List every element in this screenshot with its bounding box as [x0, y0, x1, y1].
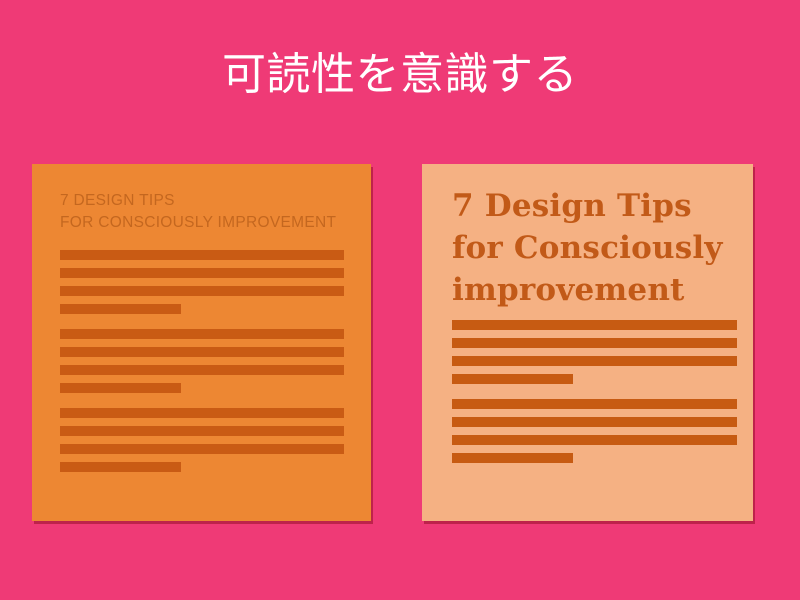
heading-line: FOR CONSCIOUSLY IMPROVEMENT	[60, 212, 350, 234]
text-line-bar	[452, 356, 737, 366]
text-line-bar	[60, 250, 344, 260]
paragraph-group	[452, 320, 737, 384]
text-line-bar	[452, 338, 737, 348]
text-line-bar	[452, 417, 737, 427]
text-line-bar	[60, 347, 344, 357]
text-line-bar	[60, 383, 181, 393]
paragraph-group	[60, 250, 344, 314]
page-title: 可読性を意識する	[0, 50, 800, 101]
card-heading-low-contrast: 7 DESIGN TIPS FOR CONSCIOUSLY IMPROVEMEN…	[60, 190, 350, 235]
text-line-bar	[452, 453, 573, 463]
heading-line: 7 DESIGN TIPS	[60, 190, 350, 212]
text-line-bar	[60, 304, 181, 314]
text-line-bar	[452, 399, 737, 409]
heading-line: improvement	[452, 270, 737, 312]
text-line-bar	[60, 268, 344, 278]
paragraph-group	[452, 399, 737, 463]
text-line-bar	[452, 320, 737, 330]
paragraph-group	[60, 329, 344, 393]
slide-canvas: 可読性を意識する 7 DESIGN TIPS FOR CONSCIOUSLY I…	[0, 0, 800, 600]
text-line-bar	[452, 435, 737, 445]
paragraph-placeholder-stack	[60, 250, 344, 472]
paragraph-placeholder-stack	[452, 320, 737, 463]
text-line-bar	[60, 408, 344, 418]
paragraph-group	[60, 408, 344, 472]
text-line-bar	[60, 444, 344, 454]
text-line-bar	[60, 286, 344, 296]
card-heading-high-contrast: 7 Design Tips for Consciously improvemen…	[452, 186, 737, 312]
text-line-bar	[452, 374, 573, 384]
text-line-bar	[60, 462, 181, 472]
text-line-bar	[60, 329, 344, 339]
text-line-bar	[60, 365, 344, 375]
heading-line: for Consciously	[452, 228, 737, 270]
card-low-contrast-example: 7 DESIGN TIPS FOR CONSCIOUSLY IMPROVEMEN…	[32, 164, 371, 521]
heading-line: 7 Design Tips	[452, 186, 737, 228]
card-high-contrast-example: 7 Design Tips for Consciously improvemen…	[422, 164, 753, 521]
text-line-bar	[60, 426, 344, 436]
